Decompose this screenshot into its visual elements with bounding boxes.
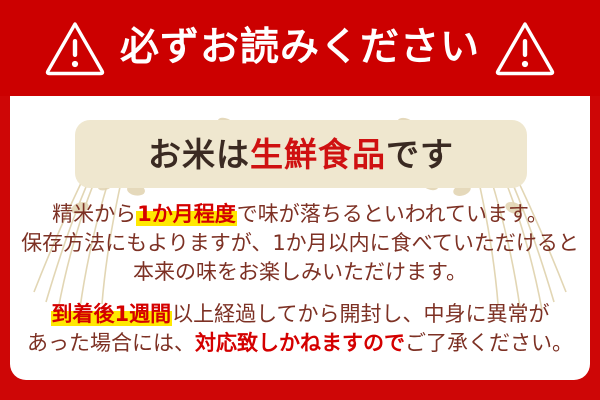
headline-banner: お米は生鮮食品です [75,120,527,188]
headline-suffix: です [386,135,454,174]
headline-text: お米は生鮮食品です [148,138,454,171]
p2-l2-part2: ご了承ください。 [405,331,573,355]
headline-emphasis: 生鮮食品 [250,135,386,174]
p2-l1-highlight: 到着後1週間 [51,302,173,326]
p2-l2-part1: あった場合には、 [27,331,195,355]
header-band: 必ずお読みください [0,0,600,96]
paragraph2-line2: あった場合には、対応致しかねますのでご了承ください。 [10,329,590,358]
paragraph-spacer [10,287,590,300]
p1-l1-part2: で味が落ちるといわれています。 [237,202,548,226]
paragraph2-line1: 到着後1週間以上経過してから開封し、中身に異常が [10,300,590,329]
p1-l1-part1: 精米から [52,202,136,226]
page-title: 必ずお読みください [120,28,480,69]
p1-l1-highlight: 1か月程度 [136,202,237,226]
p2-l1-part2: 以上経過してから開封し、中身に異常が [172,302,549,326]
warning-triangle-icon [494,20,556,76]
content-panel: お米は生鮮食品です 精米から1か月程度で味が落ちるといわれています。 保存方法に… [10,96,590,380]
warning-triangle-icon [44,20,106,76]
paragraph1-line2: 保存方法にもよりますが、1か月以内に食べていただけると [10,229,590,258]
paragraph1-line3: 本来の味をお楽しみいただけます。 [10,258,590,287]
headline-prefix: お米は [148,135,250,174]
paragraph1-line1: 精米から1か月程度で味が落ちるといわれています。 [10,200,590,229]
p2-l2-emphasis: 対応致しかねますので [195,331,405,355]
notice-card: 必ずお読みください [0,0,600,400]
body-text-block: 精米から1か月程度で味が落ちるといわれています。 保存方法にもよりますが、1か月… [10,200,590,358]
